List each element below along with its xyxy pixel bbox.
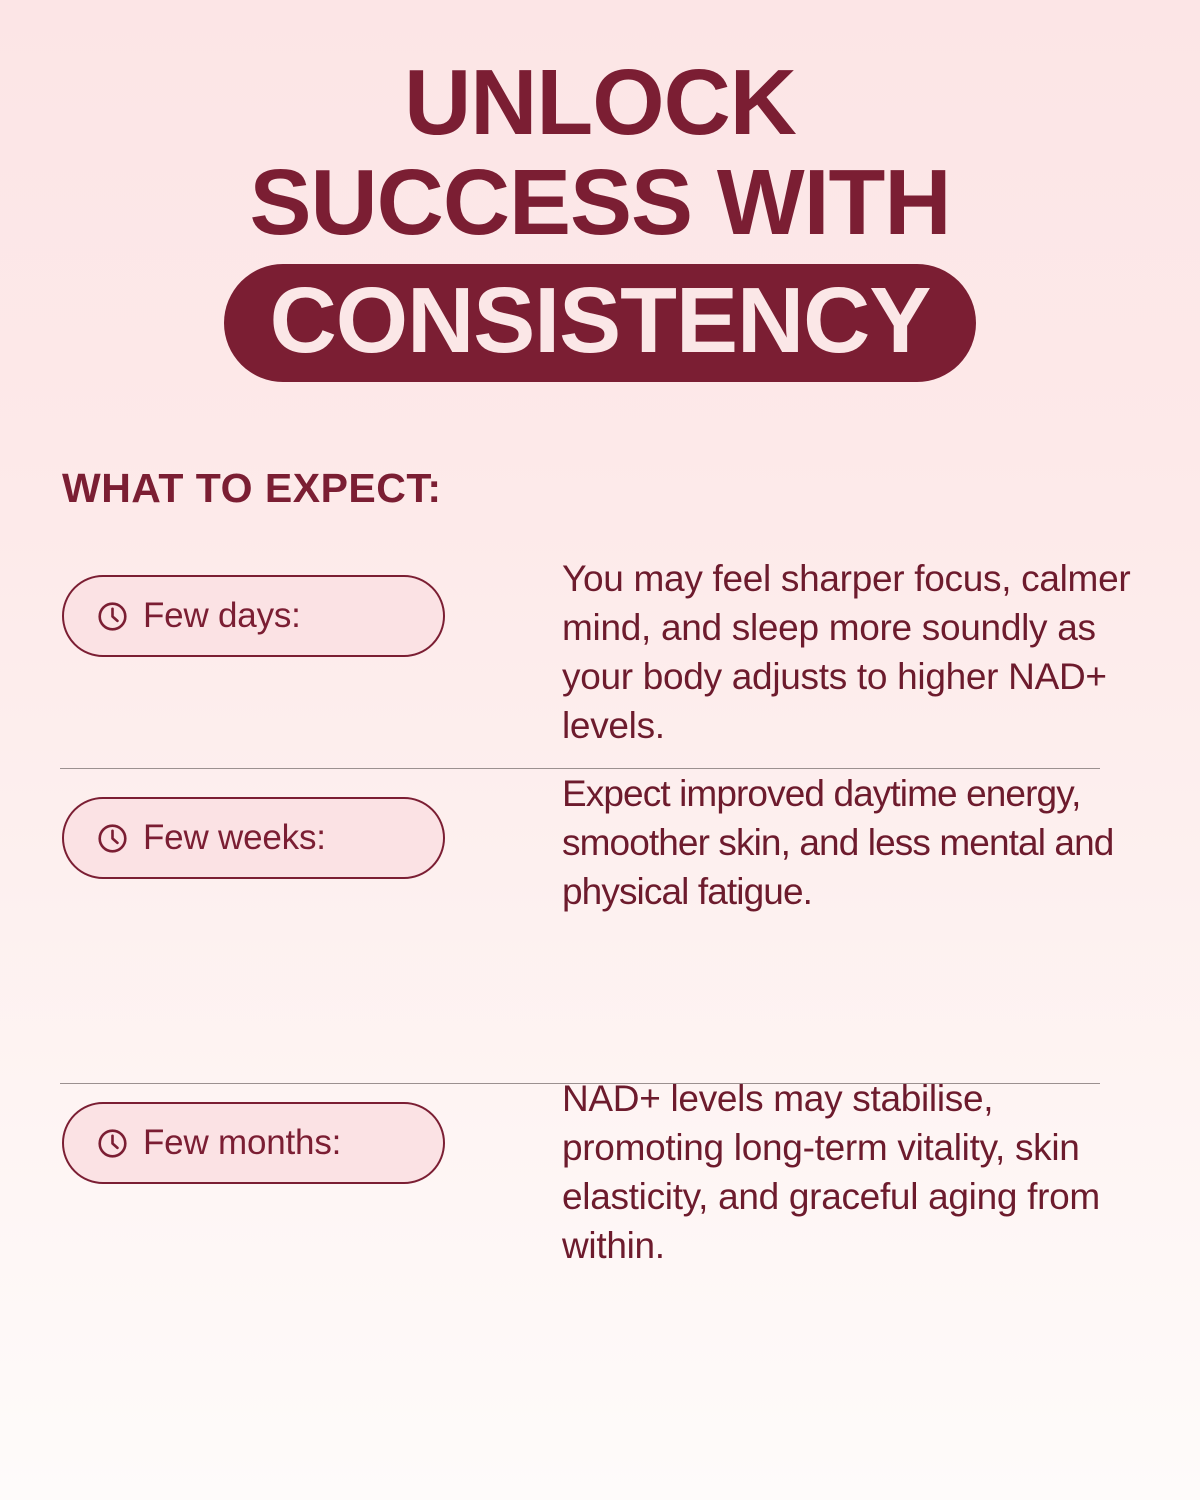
clock-icon [96,600,129,633]
timeline-pill-few-months[interactable]: Few months: [62,1102,445,1184]
timeline-pill-label: Few months: [143,1123,341,1163]
page-title: WHAT TO EXPECT: [62,465,442,512]
infographic-page: UNLOCK SUCCESS WITH CONSISTENCY WHAT TO … [0,0,1200,1500]
headline-badge-consistency: CONSISTENCY [224,264,977,382]
headline-badge-wrap: CONSISTENCY [0,264,1200,382]
headline-line-1: UNLOCK [0,52,1200,152]
clock-icon [96,1127,129,1160]
timeline-pill-label: Few days: [143,596,301,636]
list-item: Few months: NAD+ levels may stabilise, p… [0,1060,1200,1360]
timeline-pill-few-weeks[interactable]: Few weeks: [62,797,445,879]
list-item: Few days: You may feel sharper focus, ca… [0,540,1200,755]
timeline-pill-few-days[interactable]: Few days: [62,575,445,657]
divider [60,1083,1100,1084]
timeline-description: Expect improved daytime energy, smoother… [562,769,1117,916]
header-title-block: UNLOCK SUCCESS WITH CONSISTENCY [0,52,1200,382]
timeline-pill-label: Few weeks: [143,818,326,858]
timeline-description: You may feel sharper focus, calmer mind,… [562,554,1137,750]
timeline-list: Few days: You may feel sharper focus, ca… [0,540,1200,1360]
headline-line-2: SUCCESS WITH [0,152,1200,252]
timeline-description: NAD+ levels may stabilise, promoting lon… [562,1074,1137,1270]
list-item: Few weeks: Expect improved daytime energ… [0,755,1200,1060]
clock-icon [96,822,129,855]
divider [60,768,1100,769]
